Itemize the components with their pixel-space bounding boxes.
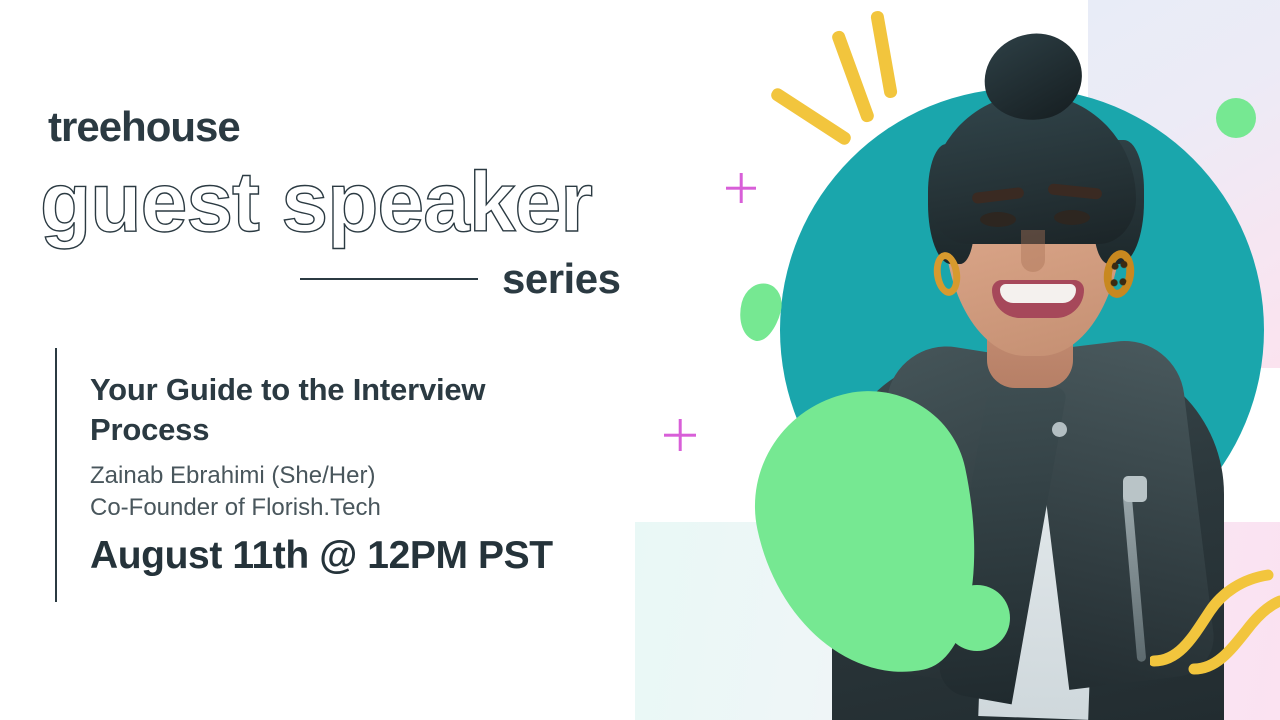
- green-dot-bottom-icon: [944, 585, 1010, 651]
- eye-left: [980, 212, 1016, 227]
- talk-title: Your Guide to the Interview Process: [90, 370, 520, 449]
- series-row: series: [300, 258, 620, 300]
- speaker-role: Co-Founder of Florish.Tech: [90, 492, 381, 524]
- nose: [1021, 230, 1045, 272]
- speaker-name: Zainab Ebrahimi (She/Her): [90, 460, 375, 492]
- brand-wordmark: treehouse: [48, 106, 240, 148]
- eye-right: [1054, 210, 1090, 225]
- slide-canvas: treehouse guest speaker series Your Guid…: [0, 0, 1280, 720]
- green-small-blob-icon: [734, 279, 787, 345]
- jacket-stud: [1052, 422, 1067, 437]
- event-date: August 11th @ 12PM PST: [90, 534, 553, 578]
- teeth: [1000, 284, 1076, 303]
- magenta-plus-icon: [726, 173, 756, 203]
- jacket-zipper-pull: [1123, 476, 1147, 502]
- vertical-accent-rule: [55, 348, 57, 602]
- yellow-squiggle-icon: [1150, 565, 1280, 685]
- series-label: series: [502, 258, 620, 300]
- magenta-plus-icon: [664, 419, 696, 451]
- series-divider-rule: [300, 278, 478, 280]
- headline-outline-text: guest speaker: [40, 160, 592, 244]
